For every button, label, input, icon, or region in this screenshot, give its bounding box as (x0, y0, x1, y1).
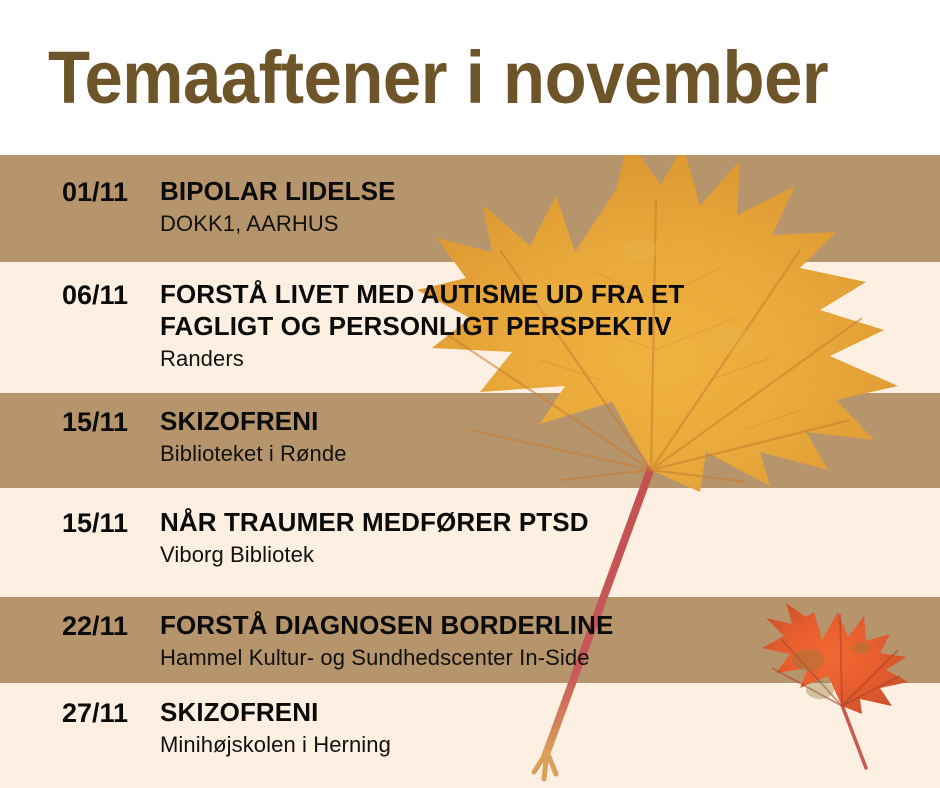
poster-canvas: Temaaftener i november 01/11 BIPOLAR LID… (0, 0, 940, 788)
list-item[interactable]: 06/11 FORSTÅ LIVET MED AUTISME UD FRA ET… (0, 278, 940, 373)
event-venue: DOKK1, AARHUS (160, 210, 940, 238)
event-title: FORSTÅ DIAGNOSEN BORDERLINE (160, 609, 940, 641)
event-date: 22/11 (0, 609, 160, 643)
event-list: 01/11 BIPOLAR LIDELSE DOKK1, AARHUS 06/1… (0, 0, 940, 788)
event-title: SKIZOFRENI (160, 696, 940, 728)
event-venue: Biblioteket i Rønde (160, 440, 940, 468)
event-venue: Viborg Bibliotek (160, 541, 940, 569)
event-title: NÅR TRAUMER MEDFØRER PTSD (160, 506, 940, 538)
list-item[interactable]: 27/11 SKIZOFRENI Minihøjskolen i Herning (0, 696, 940, 759)
event-venue: Minihøjskolen i Herning (160, 731, 940, 759)
event-title: FORSTÅ LIVET MED AUTISME UD FRA ET FAGLI… (160, 278, 940, 342)
list-item[interactable]: 15/11 NÅR TRAUMER MEDFØRER PTSD Viborg B… (0, 506, 940, 569)
list-item[interactable]: 01/11 BIPOLAR LIDELSE DOKK1, AARHUS (0, 175, 940, 238)
list-item[interactable]: 15/11 SKIZOFRENI Biblioteket i Rønde (0, 405, 940, 468)
event-date: 15/11 (0, 405, 160, 439)
event-title: BIPOLAR LIDELSE (160, 175, 940, 207)
event-date: 27/11 (0, 696, 160, 730)
event-date: 06/11 (0, 278, 160, 312)
event-venue: Hammel Kultur- og Sundhedscenter In-Side (160, 644, 940, 672)
list-item[interactable]: 22/11 FORSTÅ DIAGNOSEN BORDERLINE Hammel… (0, 609, 940, 672)
event-date: 01/11 (0, 175, 160, 209)
event-venue: Randers (160, 345, 940, 373)
event-title: SKIZOFRENI (160, 405, 940, 437)
event-date: 15/11 (0, 506, 160, 540)
